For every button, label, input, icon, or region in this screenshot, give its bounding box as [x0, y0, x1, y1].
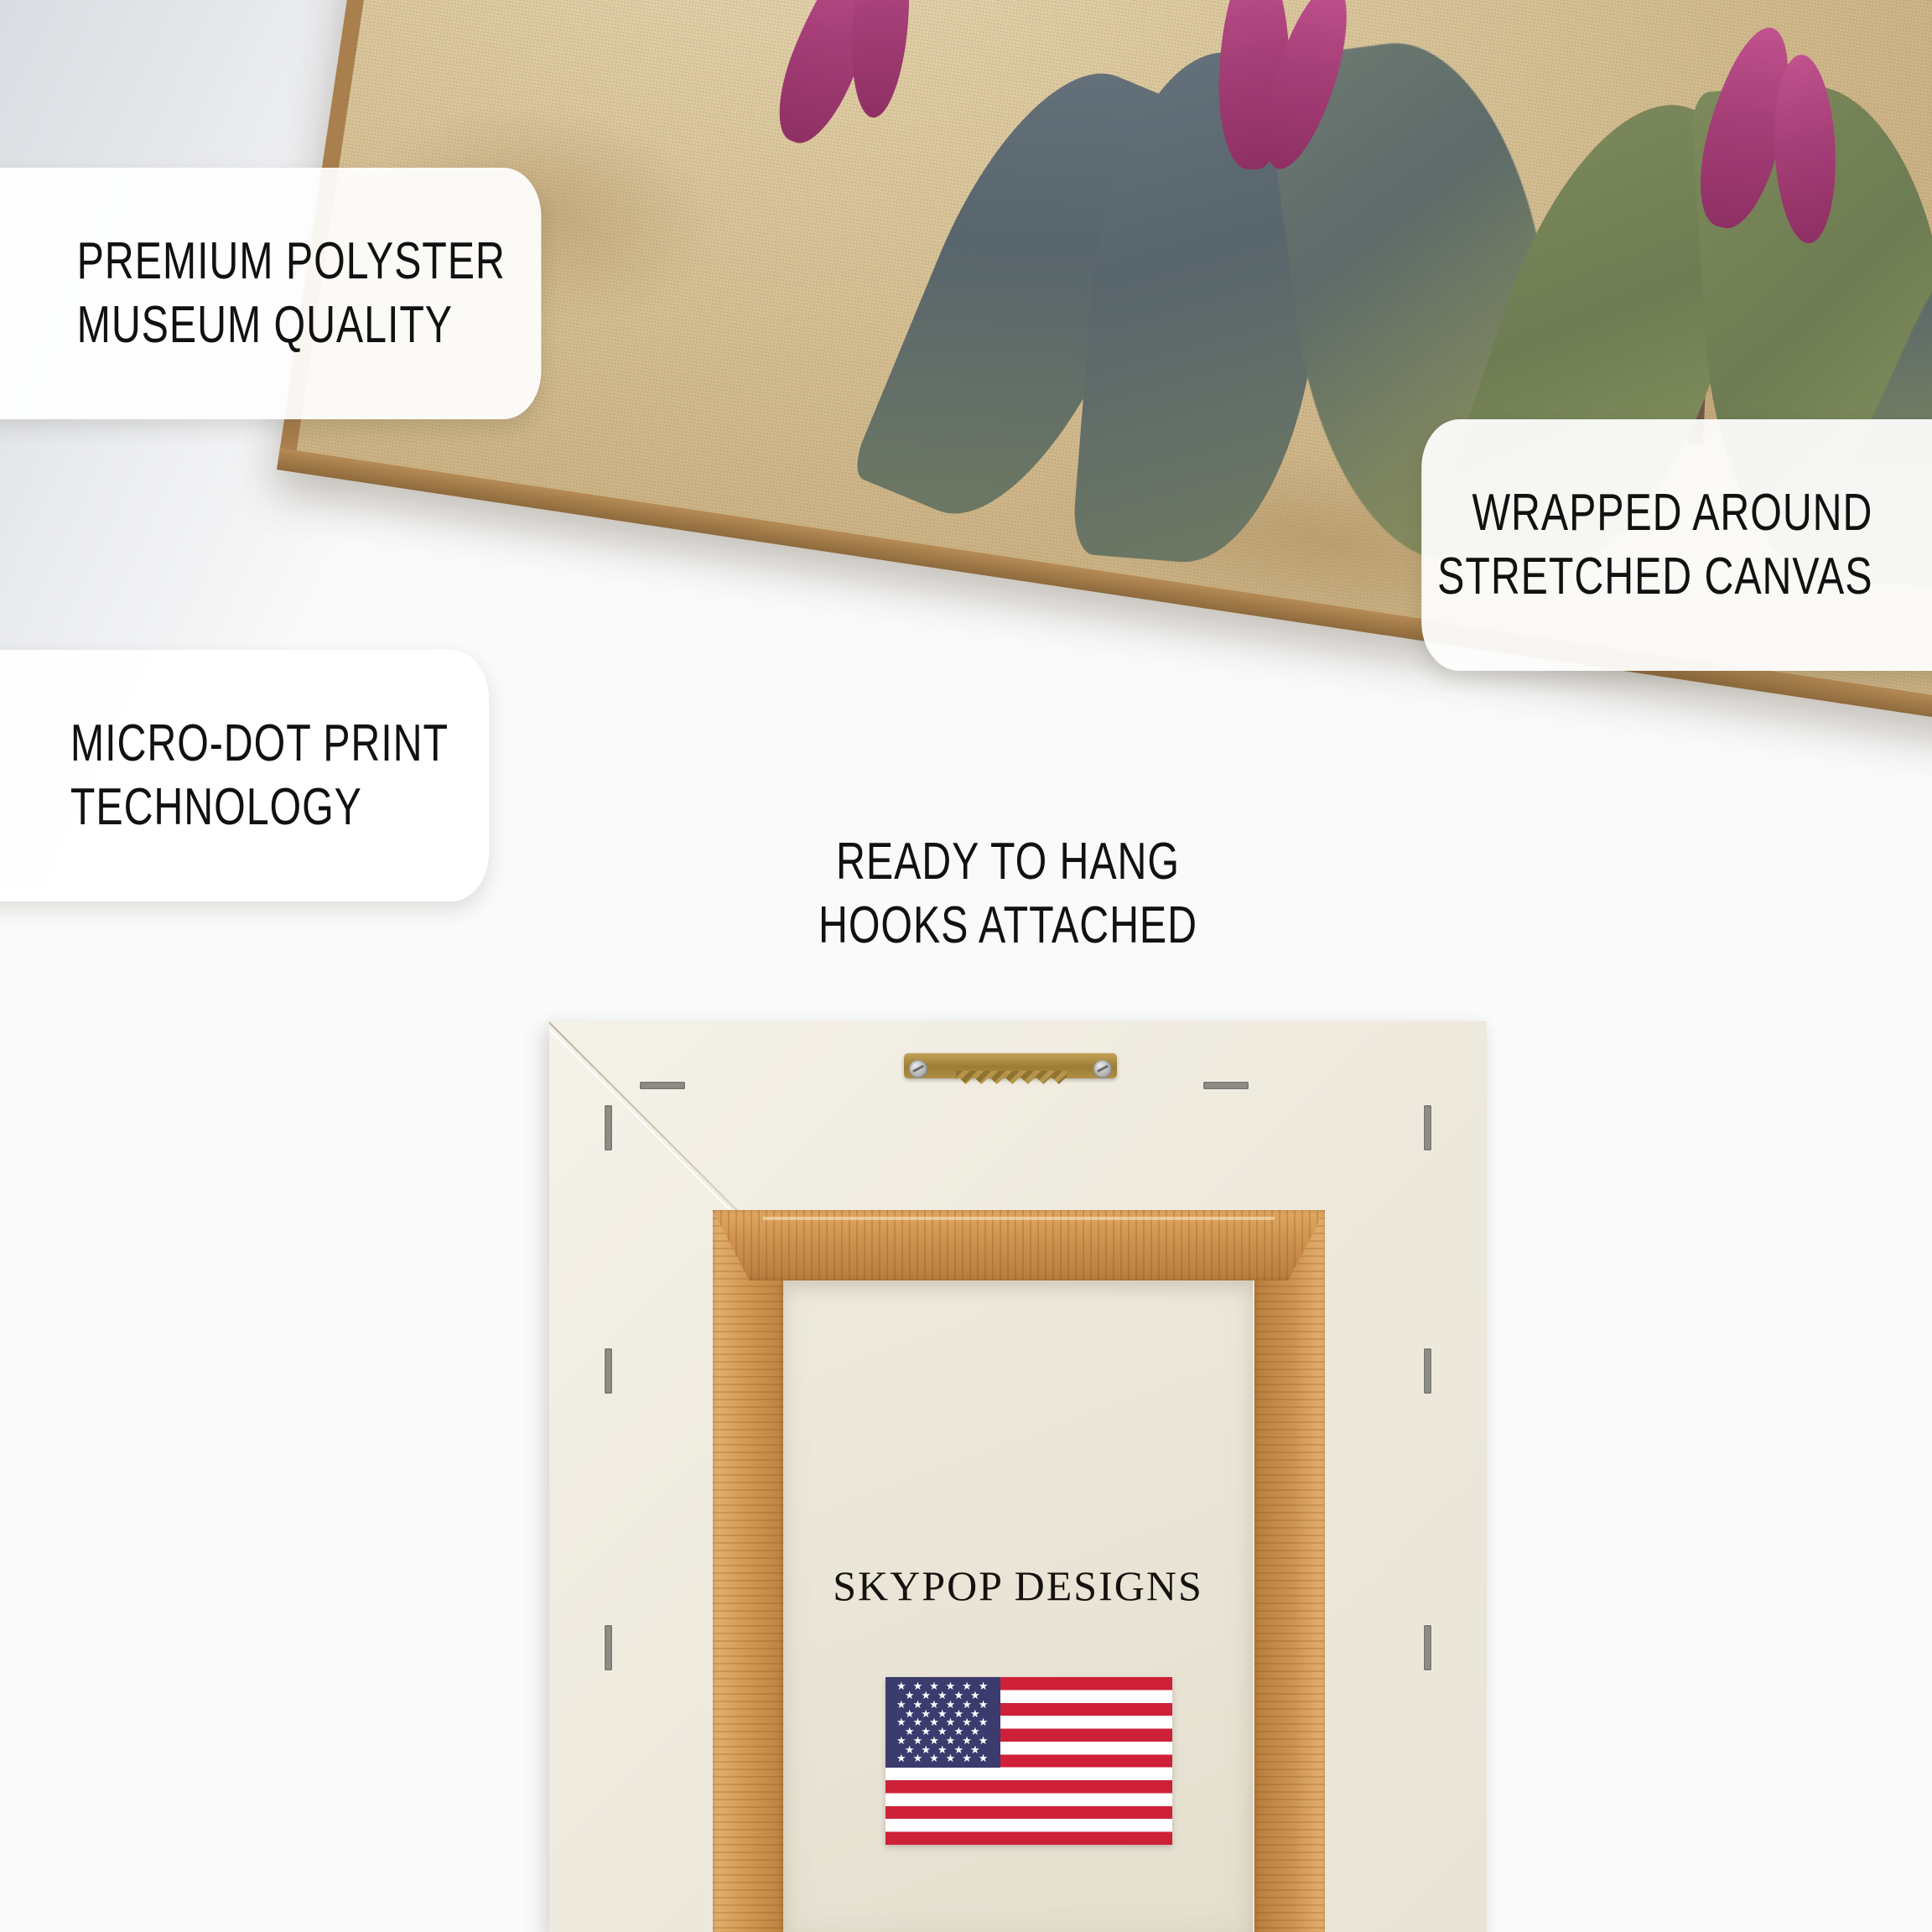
staple	[1424, 1105, 1431, 1150]
flag-star: ★	[929, 1753, 939, 1763]
flag-star: ★	[896, 1753, 906, 1763]
feature-badge-premium-polyster: PREMIUM POLYSTER MUSEUM QUALITY	[0, 168, 541, 419]
painted-petal	[1771, 54, 1840, 245]
screw-icon	[909, 1060, 927, 1078]
stretcher-bar-top	[713, 1210, 1325, 1280]
staple	[1424, 1625, 1431, 1670]
feature-badge-micro-dot-print: MICRO-DOT PRINT TECHNOLOGY	[0, 650, 489, 901]
caption-ready-line1: READY TO HANG	[714, 830, 1302, 894]
feature-badge-wrapped-line2: STRETCHED CANVAS	[1437, 545, 1872, 609]
painted-petal	[845, 0, 916, 120]
product-listing-image: PREMIUM POLYSTER MUSEUM QUALITY MICRO-DO…	[0, 0, 1932, 1932]
painted-petal	[1217, 0, 1293, 170]
feature-badge-wrapped-around: WRAPPED AROUND STRETCHED CANVAS	[1421, 419, 1932, 671]
hanger-teeth	[956, 1071, 1067, 1084]
painted-stem	[1688, 125, 1717, 444]
feature-badge-premium-line1: PREMIUM POLYSTER	[77, 230, 506, 293]
painted-petal	[1249, 0, 1363, 178]
mitred-corner-fold	[549, 1021, 759, 1231]
feature-badge-wrapped-line1: WRAPPED AROUND	[1472, 481, 1872, 545]
screw-icon	[1093, 1060, 1112, 1078]
feature-badge-micro-line2: TECHNOLOGY	[70, 776, 362, 839]
feature-badge-premium-line2: MUSEUM QUALITY	[77, 293, 453, 357]
flag-canton: ★★★★★★★★★★★★★★★★★★★★★★★★★★★★★★★★★★★★★★★★…	[885, 1677, 1000, 1768]
painted-leaf	[849, 39, 1207, 547]
painted-petal	[1685, 19, 1807, 236]
feature-badge-micro-line1: MICRO-DOT PRINT	[70, 712, 449, 776]
painted-stem	[1142, 85, 1229, 355]
stretcher-highlight	[763, 1217, 1275, 1220]
staple	[640, 1082, 685, 1089]
caption-ready-to-hang: READY TO HANG HOOKS ATTACHED	[714, 830, 1302, 957]
flag-star: ★	[946, 1753, 956, 1763]
staple	[605, 1105, 612, 1150]
sawtooth-hanger-icon	[904, 1048, 1117, 1087]
flag-star: ★	[979, 1753, 989, 1763]
caption-ready-line2: HOOKS ATTACHED	[714, 894, 1302, 958]
staple	[605, 1625, 612, 1670]
staple	[1203, 1082, 1249, 1089]
painted-leaf	[1071, 44, 1337, 571]
flag-star: ★	[962, 1753, 972, 1763]
painted-petal	[762, 0, 900, 153]
staple	[1424, 1348, 1431, 1394]
flag-star: ★	[913, 1753, 923, 1763]
brand-label: SKYPOP DESIGNS	[549, 1561, 1487, 1610]
united-states-flag-icon: ★★★★★★★★★★★★★★★★★★★★★★★★★★★★★★★★★★★★★★★★…	[885, 1677, 1172, 1845]
staple	[605, 1348, 612, 1394]
